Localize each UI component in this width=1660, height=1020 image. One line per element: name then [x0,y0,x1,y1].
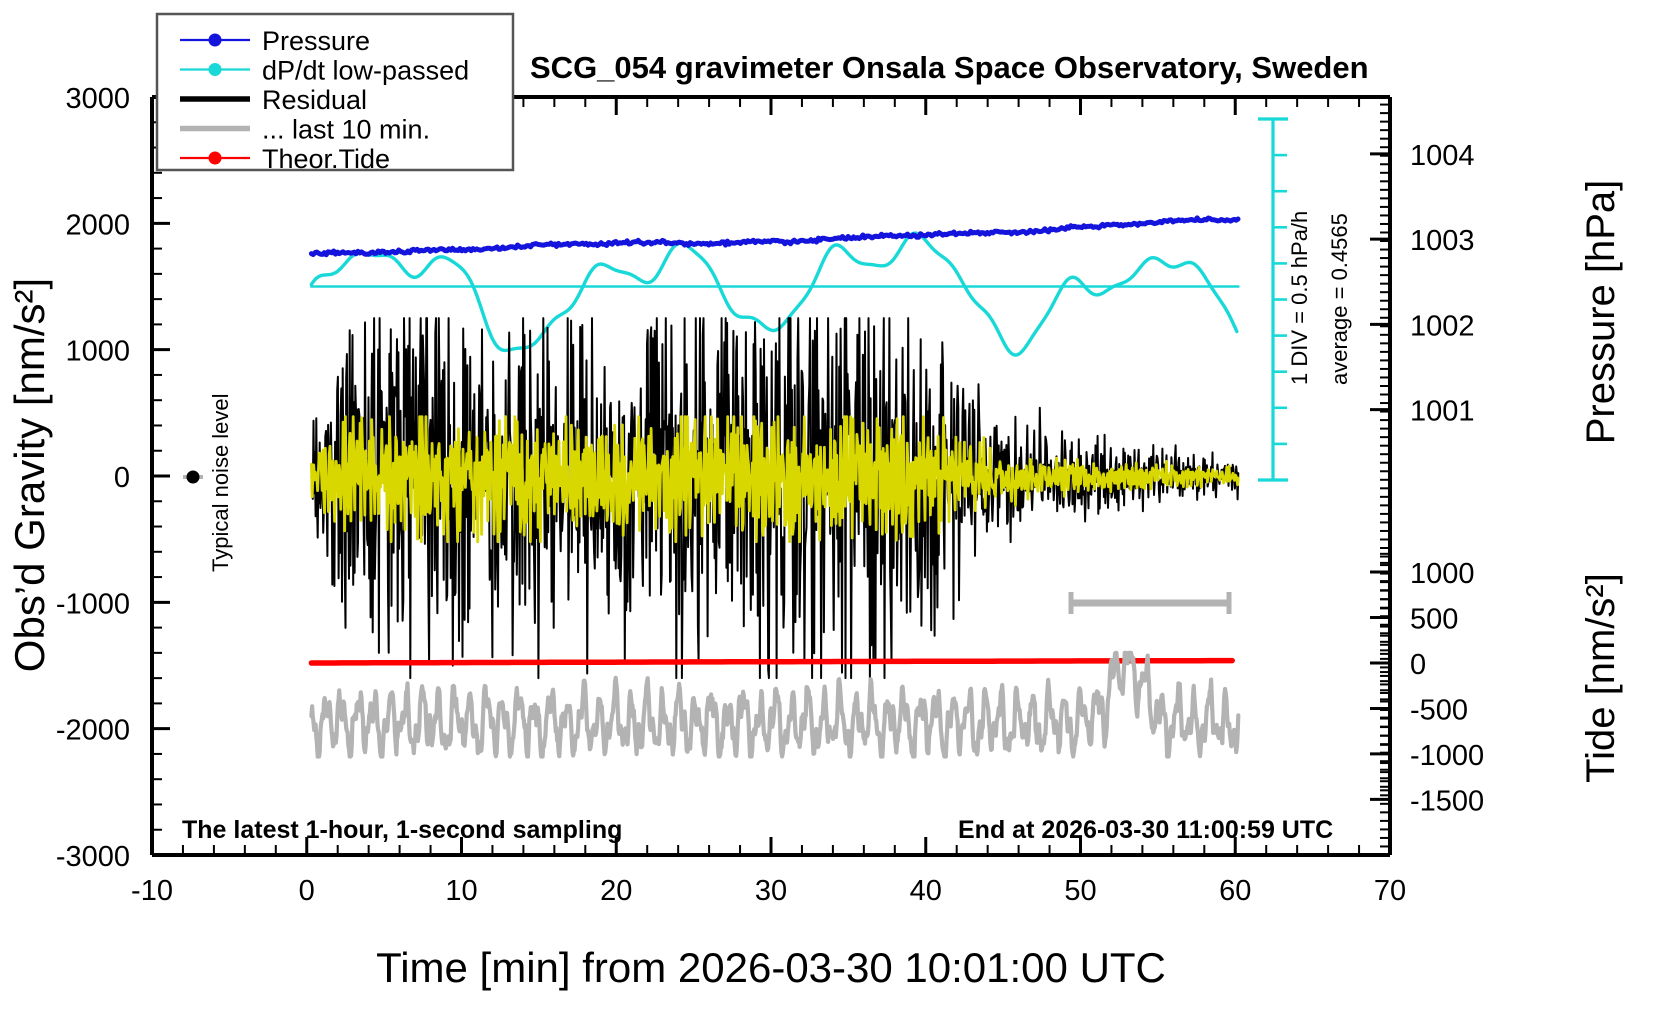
tick-label: -1000 [1410,740,1484,772]
tick-label: 70 [1374,875,1406,907]
tick-label: 1003 [1410,225,1475,257]
pressure-rate-scalebar [1258,119,1288,480]
tick-label: 1001 [1410,396,1475,428]
legend-swatch-marker [209,152,222,165]
series-pressure [311,218,1238,255]
x-axis-title: Time [min] from 2026-03-30 10:01:00 UTC [376,944,1166,991]
legend-item-label: dP/dt low-passed [262,56,469,86]
tick-label: -1000 [56,588,130,620]
last-10min-span-marker [1071,592,1229,614]
left-axis-ticks [152,97,170,855]
tick-label: 0 [299,875,315,907]
page-title: SCG_054 gravimeter Onsala Space Observat… [530,50,1369,85]
tick-label: -2000 [56,715,130,747]
tick-label: 2000 [65,209,130,241]
end-time-note: End at 2026-03-30 11:00:59 UTC [958,816,1333,844]
tick-label: 0 [1410,649,1426,681]
noise-level-label: Typical noise level [208,393,233,572]
tick-label: 1004 [1410,140,1475,172]
tide-axis-tick-labels: 10005000-500-1000-1500 [1410,558,1484,817]
series-residual [311,318,1238,678]
legend-swatch-marker [209,63,222,76]
legend-item-label: Residual [262,85,367,115]
tick-label: 1000 [65,336,130,368]
tick-label: -1500 [1410,785,1484,817]
y-axis-title-right-pressure: Pressure [hPa] [1579,180,1623,445]
scalebar-average-label: average = 0.4565 [1327,213,1352,385]
tick-label: 3000 [65,83,130,115]
scalebar-div-label: 1 DIV = 0.5 hPa/h [1287,211,1312,385]
tick-label: 50 [1064,875,1096,907]
tick-label: -500 [1410,694,1468,726]
tick-label: -10 [131,875,173,907]
tick-label: -3000 [56,841,130,873]
series-theoretical-tide [311,661,1232,663]
legend-item-label: Pressure [262,26,370,56]
left-axis-tick-labels: 3000200010000-1000-2000-3000 [56,83,130,873]
data-series-layer [311,218,1238,757]
right-axis-ticks [1370,105,1390,855]
y-axis-title-right-tide: Tide [nm/s²] [1579,573,1623,783]
tick-label: 30 [755,875,787,907]
legend-item-label: ... last 10 min. [262,115,430,145]
tick-label: 0 [114,462,130,494]
y-axis-title-left: Obs’d Gravity [nm/s²] [6,278,53,672]
tick-label: 10 [445,875,477,907]
sampling-note: The latest 1-hour, 1-second sampling [182,816,622,844]
pressure-axis-tick-labels: 1004100310021001 [1410,140,1475,428]
legend: PressuredP/dt low-passedResidual... last… [157,14,513,174]
tick-label: 60 [1219,875,1251,907]
chart-canvas: 3000200010000-1000-2000-3000 -1001020304… [0,0,1660,1020]
gravimeter-plot-page: 3000200010000-1000-2000-3000 -1001020304… [0,0,1660,1020]
tick-label: 40 [910,875,942,907]
legend-item-label: Theor.Tide [262,144,390,174]
tick-label: 20 [600,875,632,907]
typical-noise-level-marker [183,471,203,484]
legend-swatch-marker [209,34,222,47]
series-last-10-min [311,653,1238,757]
tick-label: 1002 [1410,310,1475,342]
tick-label: 1000 [1410,558,1475,590]
tick-label: 500 [1410,603,1458,635]
bottom-axis-tick-labels: -10010203040506070 [131,875,1406,907]
